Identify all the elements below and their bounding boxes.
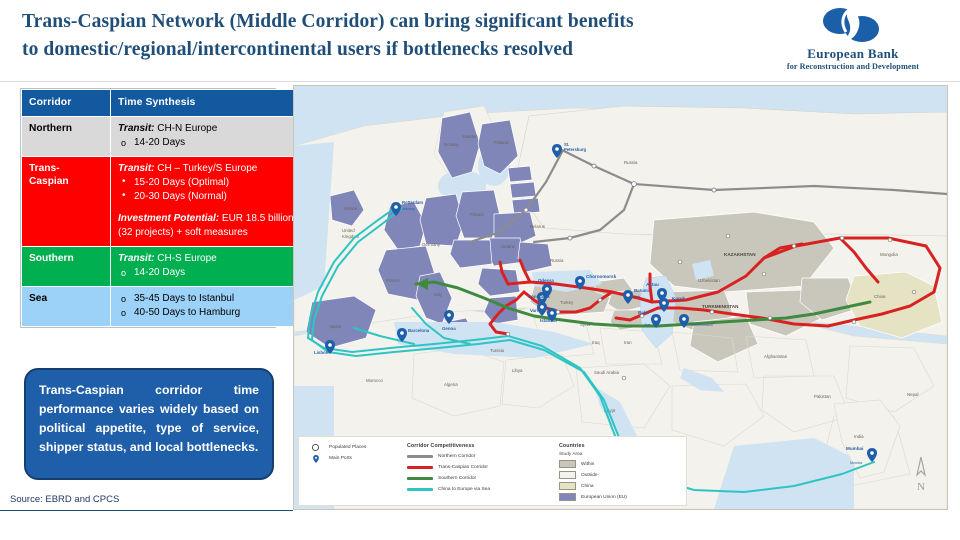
cell-time-sea: 35-45 Days to Istanbul 40-50 Days to Ham…	[111, 287, 306, 327]
outside-swatch	[559, 471, 576, 479]
corridor-map[interactable]: .cn{font-family:"Liberation Sans",sans-s…	[293, 85, 948, 510]
svg-text:Afghanistan: Afghanistan	[764, 354, 788, 359]
legend-label: Within	[581, 462, 594, 467]
list-item: 14-20 Days	[118, 136, 298, 150]
svg-text:Barcelona: Barcelona	[408, 328, 430, 333]
list-item: 14-20 Days	[118, 266, 298, 280]
populated-place-icon	[307, 444, 324, 451]
legend-item-trans-caspian-corridor: Trans-Caspian Corridor	[407, 463, 555, 472]
svg-text:Mumbai: Mumbai	[846, 446, 863, 451]
cell-corridor-northern: Northern	[22, 117, 111, 157]
page-title-line1: Trans-Caspian Network (Middle Corridor) …	[22, 11, 634, 32]
cell-corridor-sea: Sea	[22, 287, 111, 327]
svg-text:Russia: Russia	[624, 160, 638, 165]
legend-label: China to Europe via Sea	[438, 487, 490, 492]
legend-header-countries: Countries	[559, 443, 683, 449]
svg-text:Ukraine: Ukraine	[500, 244, 516, 249]
svg-text:Iraq: Iraq	[592, 340, 600, 345]
transit-value-southern: CH-S Europe	[155, 253, 217, 264]
svg-text:Sweden: Sweden	[462, 134, 478, 139]
svg-text:Ireland: Ireland	[344, 206, 358, 211]
north-arrow-icon: N	[911, 455, 931, 493]
svg-text:Tunisia: Tunisia	[490, 348, 505, 353]
svg-text:Turkey: Turkey	[560, 300, 574, 305]
callout-box: Trans-Caspian corridor time performance …	[24, 368, 274, 480]
table-row-trans-caspian[interactable]: Trans- Caspian Transit: CH – Turkey/S Eu…	[22, 157, 306, 247]
svg-text:Kuryk: Kuryk	[672, 296, 685, 301]
svg-text:Antwerp: Antwerp	[402, 207, 415, 211]
svg-text:Lisbon: Lisbon	[314, 350, 329, 355]
svg-text:Uzbekistan: Uzbekistan	[698, 278, 720, 283]
corridor-time-table: Corridor Time Synthesis Northern Transit…	[20, 88, 276, 328]
cell-time-northern: Transit: CH-N Europe 14-20 Days	[111, 117, 306, 157]
svg-text:Odessa: Odessa	[538, 278, 554, 283]
investment-label: Investment Potential:	[118, 213, 219, 224]
slide: Trans-Caspian Network (Middle Corridor) …	[0, 0, 960, 540]
svg-text:Nepal: Nepal	[907, 392, 918, 397]
legend-label: Populated Places	[329, 445, 366, 450]
corridor-name-line2: Caspian	[29, 175, 103, 188]
svg-text:Iran: Iran	[624, 340, 632, 345]
bullet-list-sea: 35-45 Days to Istanbul 40-50 Days to Ham…	[118, 292, 298, 320]
page-title: Trans-Caspian Network (Middle Corridor) …	[22, 8, 722, 64]
list-item: 40-50 Days to Hamburg	[118, 306, 298, 320]
transit-label-trans-caspian: Transit:	[118, 163, 155, 174]
svg-text:Alat: Alat	[644, 323, 650, 327]
svg-text:Morocco: Morocco	[366, 378, 383, 383]
compass-north-label: N	[911, 481, 931, 493]
bullet-list-northern: 14-20 Days	[118, 136, 298, 150]
svg-text:Aktau: Aktau	[646, 282, 659, 287]
legend-label: Outside	[581, 473, 598, 478]
svg-text:Varna: Varna	[530, 308, 543, 313]
list-item: 20-30 Days (Normal)	[118, 190, 298, 204]
cell-corridor-trans-caspian: Trans- Caspian	[22, 157, 111, 247]
ebrd-logo: European Bank for Reconstruction and Dev…	[760, 4, 946, 78]
svg-text:Poland: Poland	[470, 212, 484, 217]
svg-text:Algeria: Algeria	[444, 382, 458, 387]
ebrd-logo-name: European Bank	[760, 46, 946, 62]
source-divider	[0, 510, 293, 511]
svg-text:Mundra: Mundra	[850, 461, 862, 465]
legend-column-countries: Countries Study Area Within Outside Chin…	[559, 443, 683, 504]
svg-text:India: India	[854, 434, 864, 439]
ebrd-logo-icon	[816, 6, 886, 44]
cell-time-southern: Transit: CH-S Europe 14-20 Days	[111, 247, 306, 287]
sea-route-swatch	[407, 488, 433, 491]
svg-text:Belarus: Belarus	[530, 224, 546, 229]
map-legend: Populated Places Main Ports Corridor Com…	[298, 436, 687, 506]
svg-text:Norway: Norway	[444, 142, 460, 147]
legend-header-corridors: Corridor Competitiveness	[407, 443, 555, 449]
legend-label: Trans-Caspian Corridor	[438, 465, 488, 470]
cell-corridor-southern: Southern	[22, 247, 111, 287]
svg-text:Italy: Italy	[434, 292, 443, 297]
transit-label-southern: Transit:	[118, 253, 155, 264]
trans-caspian-corridor-swatch	[407, 466, 433, 469]
svg-text:Russia: Russia	[550, 258, 564, 263]
legend-item-outside: Outside	[559, 471, 683, 480]
list-item: 15-20 Days (Optimal)	[118, 176, 298, 190]
svg-text:Genoa: Genoa	[442, 326, 456, 331]
svg-text:Istanbul: Istanbul	[540, 318, 557, 323]
legend-label: Northern Corridor	[438, 454, 475, 459]
legend-item-southern-corridor: Southern Corridor	[407, 474, 555, 483]
ebrd-logo-subtitle: for Reconstruction and Development	[760, 62, 946, 71]
header-divider	[0, 81, 960, 82]
legend-label: Southern Corridor	[438, 476, 476, 481]
svg-text:Spain: Spain	[330, 324, 342, 329]
legend-column-points: Populated Places Main Ports	[307, 443, 399, 465]
source-note: Source: EBRD and CPCS	[10, 494, 119, 505]
svg-text:Petersburg: Petersburg	[564, 147, 587, 152]
table-row-sea[interactable]: Sea 35-45 Days to Istanbul 40-50 Days to…	[22, 287, 306, 327]
svg-text:Rotterdam: Rotterdam	[402, 200, 423, 205]
svg-text:Baku: Baku	[638, 310, 649, 315]
legend-label: China	[581, 484, 594, 489]
table-row-southern[interactable]: Southern Transit: CH-S Europe 14-20 Days	[22, 247, 306, 287]
legend-column-corridors: Corridor Competitiveness Northern Corrid…	[407, 443, 555, 496]
legend-label: Main Ports	[329, 456, 352, 461]
list-item: 35-45 Days to Istanbul	[118, 292, 298, 306]
table-header-row: Corridor Time Synthesis	[22, 90, 306, 117]
legend-label: European Union (EU)	[581, 495, 627, 500]
southern-corridor-swatch	[407, 477, 433, 480]
svg-text:Germany: Germany	[422, 242, 441, 247]
svg-text:Constanta: Constanta	[528, 294, 550, 299]
transit-label-northern: Transit:	[118, 123, 155, 134]
legend-item-sea-route: China to Europe via Sea	[407, 485, 555, 494]
transit-value-northern: CH-N Europe	[155, 123, 218, 134]
legend-item-within: Within	[559, 460, 683, 469]
svg-text:Poti: Poti	[634, 295, 640, 299]
cell-time-trans-caspian: Transit: CH – Turkey/S Europe 15-20 Days…	[111, 157, 306, 247]
svg-text:Batumi: Batumi	[634, 288, 649, 293]
eu-swatch	[559, 493, 576, 501]
china-swatch	[559, 482, 576, 490]
svg-text:Turkmenbashi: Turkmenbashi	[690, 323, 713, 327]
svg-text:Libya: Libya	[512, 368, 523, 373]
main-port-pin-icon	[307, 455, 324, 463]
svg-text:Mongolia: Mongolia	[880, 252, 898, 257]
header-cell-time-synthesis: Time Synthesis	[111, 90, 306, 117]
legend-subheader-study-area: Study Area	[559, 452, 683, 457]
corridor-name-line1: Trans-	[29, 162, 103, 175]
table-row-northern[interactable]: Northern Transit: CH-N Europe 14-20 Days	[22, 117, 306, 157]
svg-text:Saudi Arabia: Saudi Arabia	[594, 370, 619, 375]
bullet-list-trans-caspian: 15-20 Days (Optimal) 20-30 Days (Normal)	[118, 176, 298, 204]
legend-item-china: China	[559, 482, 683, 491]
svg-text:KAZAKHSTAN: KAZAKHSTAN	[724, 252, 756, 257]
svg-text:United: United	[342, 228, 355, 233]
spacer	[118, 204, 298, 212]
legend-item-northern-corridor: Northern Corridor	[407, 452, 555, 461]
svg-text:Chornomorsk: Chornomorsk	[586, 274, 617, 279]
legend-item-populated-places: Populated Places	[307, 443, 399, 452]
header-cell-corridor: Corridor	[22, 90, 111, 117]
svg-text:TURKMENISTAN: TURKMENISTAN	[702, 304, 739, 309]
slide-header: Trans-Caspian Network (Middle Corridor) …	[0, 0, 960, 82]
bullet-list-southern: 14-20 Days	[118, 266, 298, 280]
transit-value-trans-caspian: CH – Turkey/S Europe	[155, 163, 258, 174]
northern-corridor-swatch	[407, 455, 433, 458]
svg-text:France: France	[386, 278, 400, 283]
legend-item-european-union: European Union (EU)	[559, 493, 683, 502]
svg-text:Finland: Finland	[494, 140, 509, 145]
svg-text:China: China	[874, 294, 886, 299]
page-title-line2: to domestic/regional/intercontinental us…	[22, 36, 722, 64]
within-swatch	[559, 460, 576, 468]
svg-text:Pakistan: Pakistan	[814, 394, 831, 399]
legend-item-main-ports: Main Ports	[307, 454, 399, 463]
